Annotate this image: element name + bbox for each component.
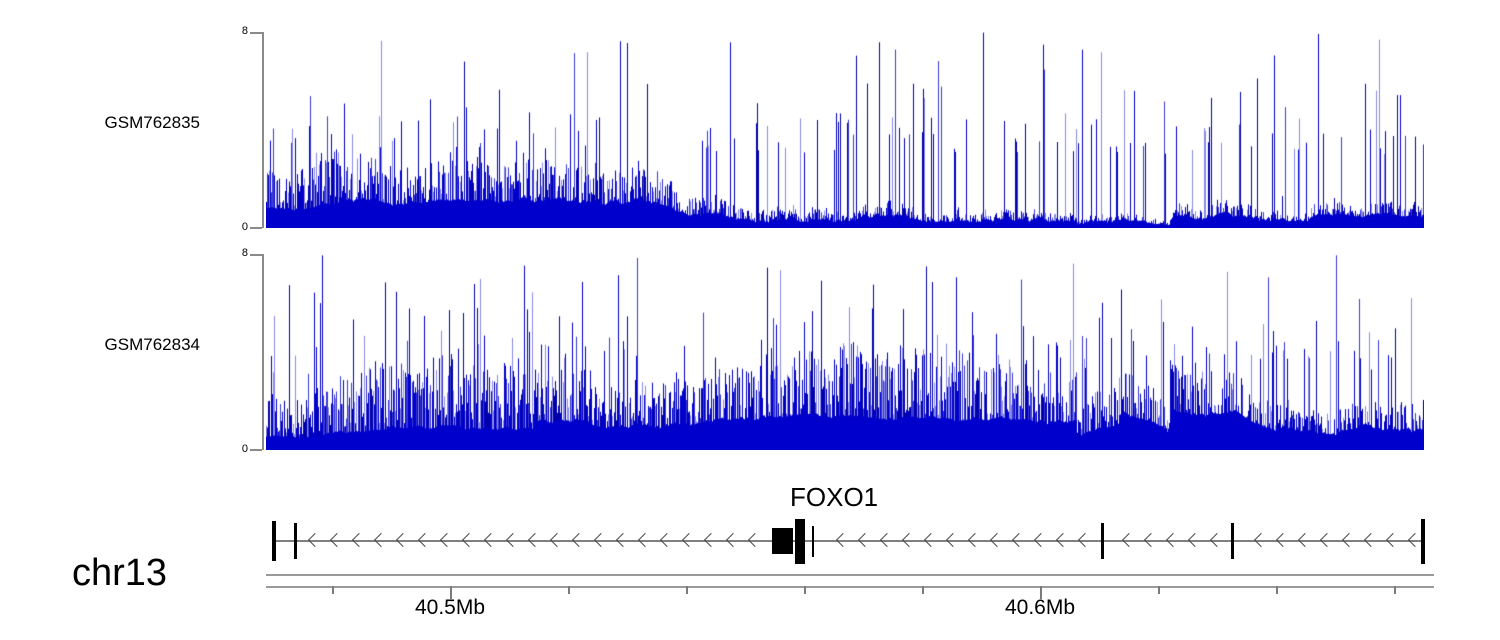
strand-arrow-icon — [1342, 533, 1356, 547]
exon-block[interactable] — [294, 523, 297, 559]
strand-arrow-icon — [1078, 533, 1092, 547]
chromosome-label: chr13 — [72, 552, 167, 595]
ruler-tick-minor — [568, 586, 570, 594]
track-label-gsm762835: GSM762835 — [0, 113, 200, 133]
strand-arrow-icon — [418, 533, 432, 547]
strand-arrow-icon — [484, 533, 498, 547]
strand-arrow-icon — [1144, 533, 1158, 547]
ruler-tick-minor — [1158, 586, 1160, 594]
strand-arrow-icon — [748, 533, 762, 547]
track-1-tick-max — [250, 32, 262, 34]
track-2-axis-line — [262, 254, 264, 450]
track-label-gsm762834: GSM762834 — [0, 335, 200, 355]
ruler-tick-minor — [1394, 586, 1396, 594]
exon-block[interactable] — [1231, 523, 1234, 559]
track-2-plot[interactable] — [266, 254, 1424, 450]
strand-arrow-icon — [880, 533, 894, 547]
exon-block[interactable] — [795, 519, 805, 564]
ruler-line-bottom — [266, 586, 1434, 588]
track-1-axis-line — [262, 32, 264, 228]
strand-arrow-icon — [946, 533, 960, 547]
ruler-tick-minor — [686, 586, 688, 594]
strand-arrow-icon — [858, 533, 872, 547]
exon-block[interactable] — [1421, 519, 1425, 564]
strand-arrow-icon — [462, 533, 476, 547]
strand-arrow-icon — [1056, 533, 1070, 547]
strand-arrow-icon — [1408, 533, 1422, 547]
strand-arrow-icon — [924, 533, 938, 547]
strand-arrow-icon — [396, 533, 410, 547]
track-2-tick-min — [250, 449, 262, 451]
exon-block[interactable] — [772, 528, 793, 554]
track-2-axis-min: 0 — [226, 443, 248, 455]
strand-arrow-icon — [704, 533, 718, 547]
strand-arrow-icon — [1188, 533, 1202, 547]
strand-arrow-icon — [682, 533, 696, 547]
strand-arrow-icon — [1210, 533, 1224, 547]
exon-block[interactable] — [812, 526, 814, 557]
strand-arrow-icon — [660, 533, 674, 547]
strand-arrow-icon — [594, 533, 608, 547]
track-2-tick-max — [250, 254, 262, 256]
strand-arrow-icon — [550, 533, 564, 547]
exon-block[interactable] — [1101, 523, 1104, 559]
track-1-plot[interactable] — [266, 32, 1424, 228]
strand-arrow-icon — [1298, 533, 1312, 547]
ruler-tick-minor — [804, 586, 806, 594]
strand-arrow-icon — [572, 533, 586, 547]
strand-arrow-icon — [1012, 533, 1026, 547]
strand-arrow-icon — [330, 533, 344, 547]
strand-arrow-icon — [528, 533, 542, 547]
strand-arrow-icon — [352, 533, 366, 547]
strand-arrow-icon — [1364, 533, 1378, 547]
exon-block[interactable] — [272, 521, 276, 561]
strand-arrow-icon — [440, 533, 454, 547]
ruler-tick-minor — [922, 586, 924, 594]
ruler-label: 40.6Mb — [1005, 596, 1075, 620]
strand-arrow-icon — [616, 533, 630, 547]
strand-arrow-icon — [1034, 533, 1048, 547]
strand-arrow-icon — [968, 533, 982, 547]
strand-arrow-icon — [902, 533, 916, 547]
strand-arrow-icon — [1122, 533, 1136, 547]
track-1-axis-min: 0 — [226, 221, 248, 233]
genome-browser: GSM762835 8 0 GSM762834 8 0 FOXO1 40.5Mb… — [0, 0, 1500, 640]
track-2-axis-max: 8 — [226, 247, 248, 259]
strand-arrow-icon — [1386, 533, 1400, 547]
strand-arrow-icon — [836, 533, 850, 547]
ruler-line-top — [266, 574, 1434, 576]
ruler-tick-minor — [1276, 586, 1278, 594]
track-1-tick-min — [250, 227, 262, 229]
strand-arrow-icon — [726, 533, 740, 547]
strand-arrow-icon — [374, 533, 388, 547]
ruler-tick-minor — [332, 586, 334, 594]
track-1-axis-max: 8 — [226, 25, 248, 37]
strand-arrow-icon — [506, 533, 520, 547]
strand-arrow-icon — [308, 533, 322, 547]
strand-arrow-icon — [990, 533, 1004, 547]
gene-label-foxo1[interactable]: FOXO1 — [790, 482, 878, 513]
strand-arrow-icon — [1254, 533, 1268, 547]
strand-arrow-icon — [1276, 533, 1290, 547]
ruler-label: 40.5Mb — [415, 596, 485, 620]
strand-arrow-icon — [638, 533, 652, 547]
strand-arrow-icon — [1166, 533, 1180, 547]
strand-arrow-icon — [1320, 533, 1334, 547]
